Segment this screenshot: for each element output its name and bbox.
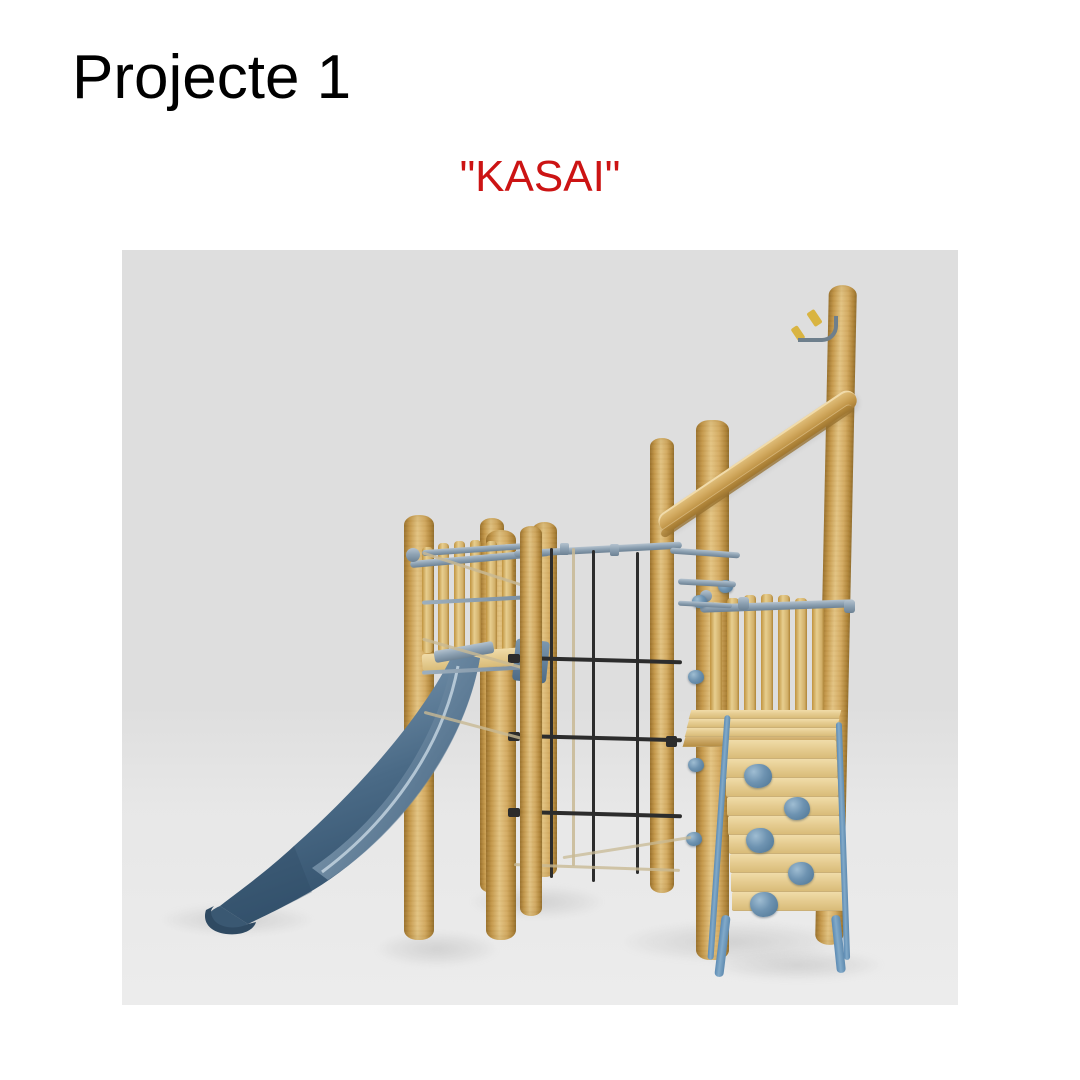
playground-render xyxy=(122,250,958,1005)
net-vertical-rope xyxy=(572,548,575,866)
net-vertical-rope xyxy=(636,552,639,874)
deck-plank xyxy=(689,710,842,719)
net-vertical-rope xyxy=(592,550,595,882)
right-platform-rail-bolt xyxy=(844,600,855,613)
post-net-front-left xyxy=(520,526,542,916)
wall-plank xyxy=(731,873,843,892)
wall-plank xyxy=(728,816,840,835)
figure-panel xyxy=(122,250,958,1005)
baluster xyxy=(744,595,756,717)
baluster xyxy=(727,598,739,718)
climbing-wall xyxy=(722,740,840,955)
climbing-hold-icon xyxy=(788,862,814,885)
deck-plank xyxy=(685,728,838,737)
deck-plank xyxy=(687,719,840,728)
net-vertical-rope xyxy=(550,548,553,878)
net-rope-clamp xyxy=(666,736,677,747)
page-subtitle: "KASAI" xyxy=(0,155,1080,199)
baluster xyxy=(710,602,722,718)
left-platform-rail-post-cap xyxy=(406,548,420,562)
wall-plank xyxy=(732,892,844,911)
grip-stud-icon xyxy=(688,670,704,684)
wall-plank xyxy=(727,797,839,816)
wall-plank xyxy=(730,854,842,873)
baluster xyxy=(761,594,773,717)
net-rope-clamp xyxy=(508,808,520,817)
baluster xyxy=(778,595,790,717)
wall-plank xyxy=(724,740,836,759)
net-top-bar-bolt xyxy=(560,543,569,555)
climbing-hold-icon xyxy=(784,797,810,820)
slide-surface xyxy=(162,640,502,940)
climbing-hold-icon xyxy=(750,892,778,917)
baluster xyxy=(795,598,807,717)
right-platform-rail-bolt xyxy=(738,597,749,610)
climbing-hold-icon xyxy=(746,828,774,853)
page-title: Projecte 1 xyxy=(72,47,351,109)
baluster xyxy=(812,602,824,717)
climbing-hold-icon xyxy=(744,764,772,788)
wall-plank xyxy=(725,759,837,778)
grip-stud-icon xyxy=(688,758,704,772)
roof-brace xyxy=(798,316,838,342)
net-top-bar-bolt xyxy=(610,544,619,556)
slide xyxy=(162,640,502,940)
wall-plank xyxy=(726,778,838,797)
